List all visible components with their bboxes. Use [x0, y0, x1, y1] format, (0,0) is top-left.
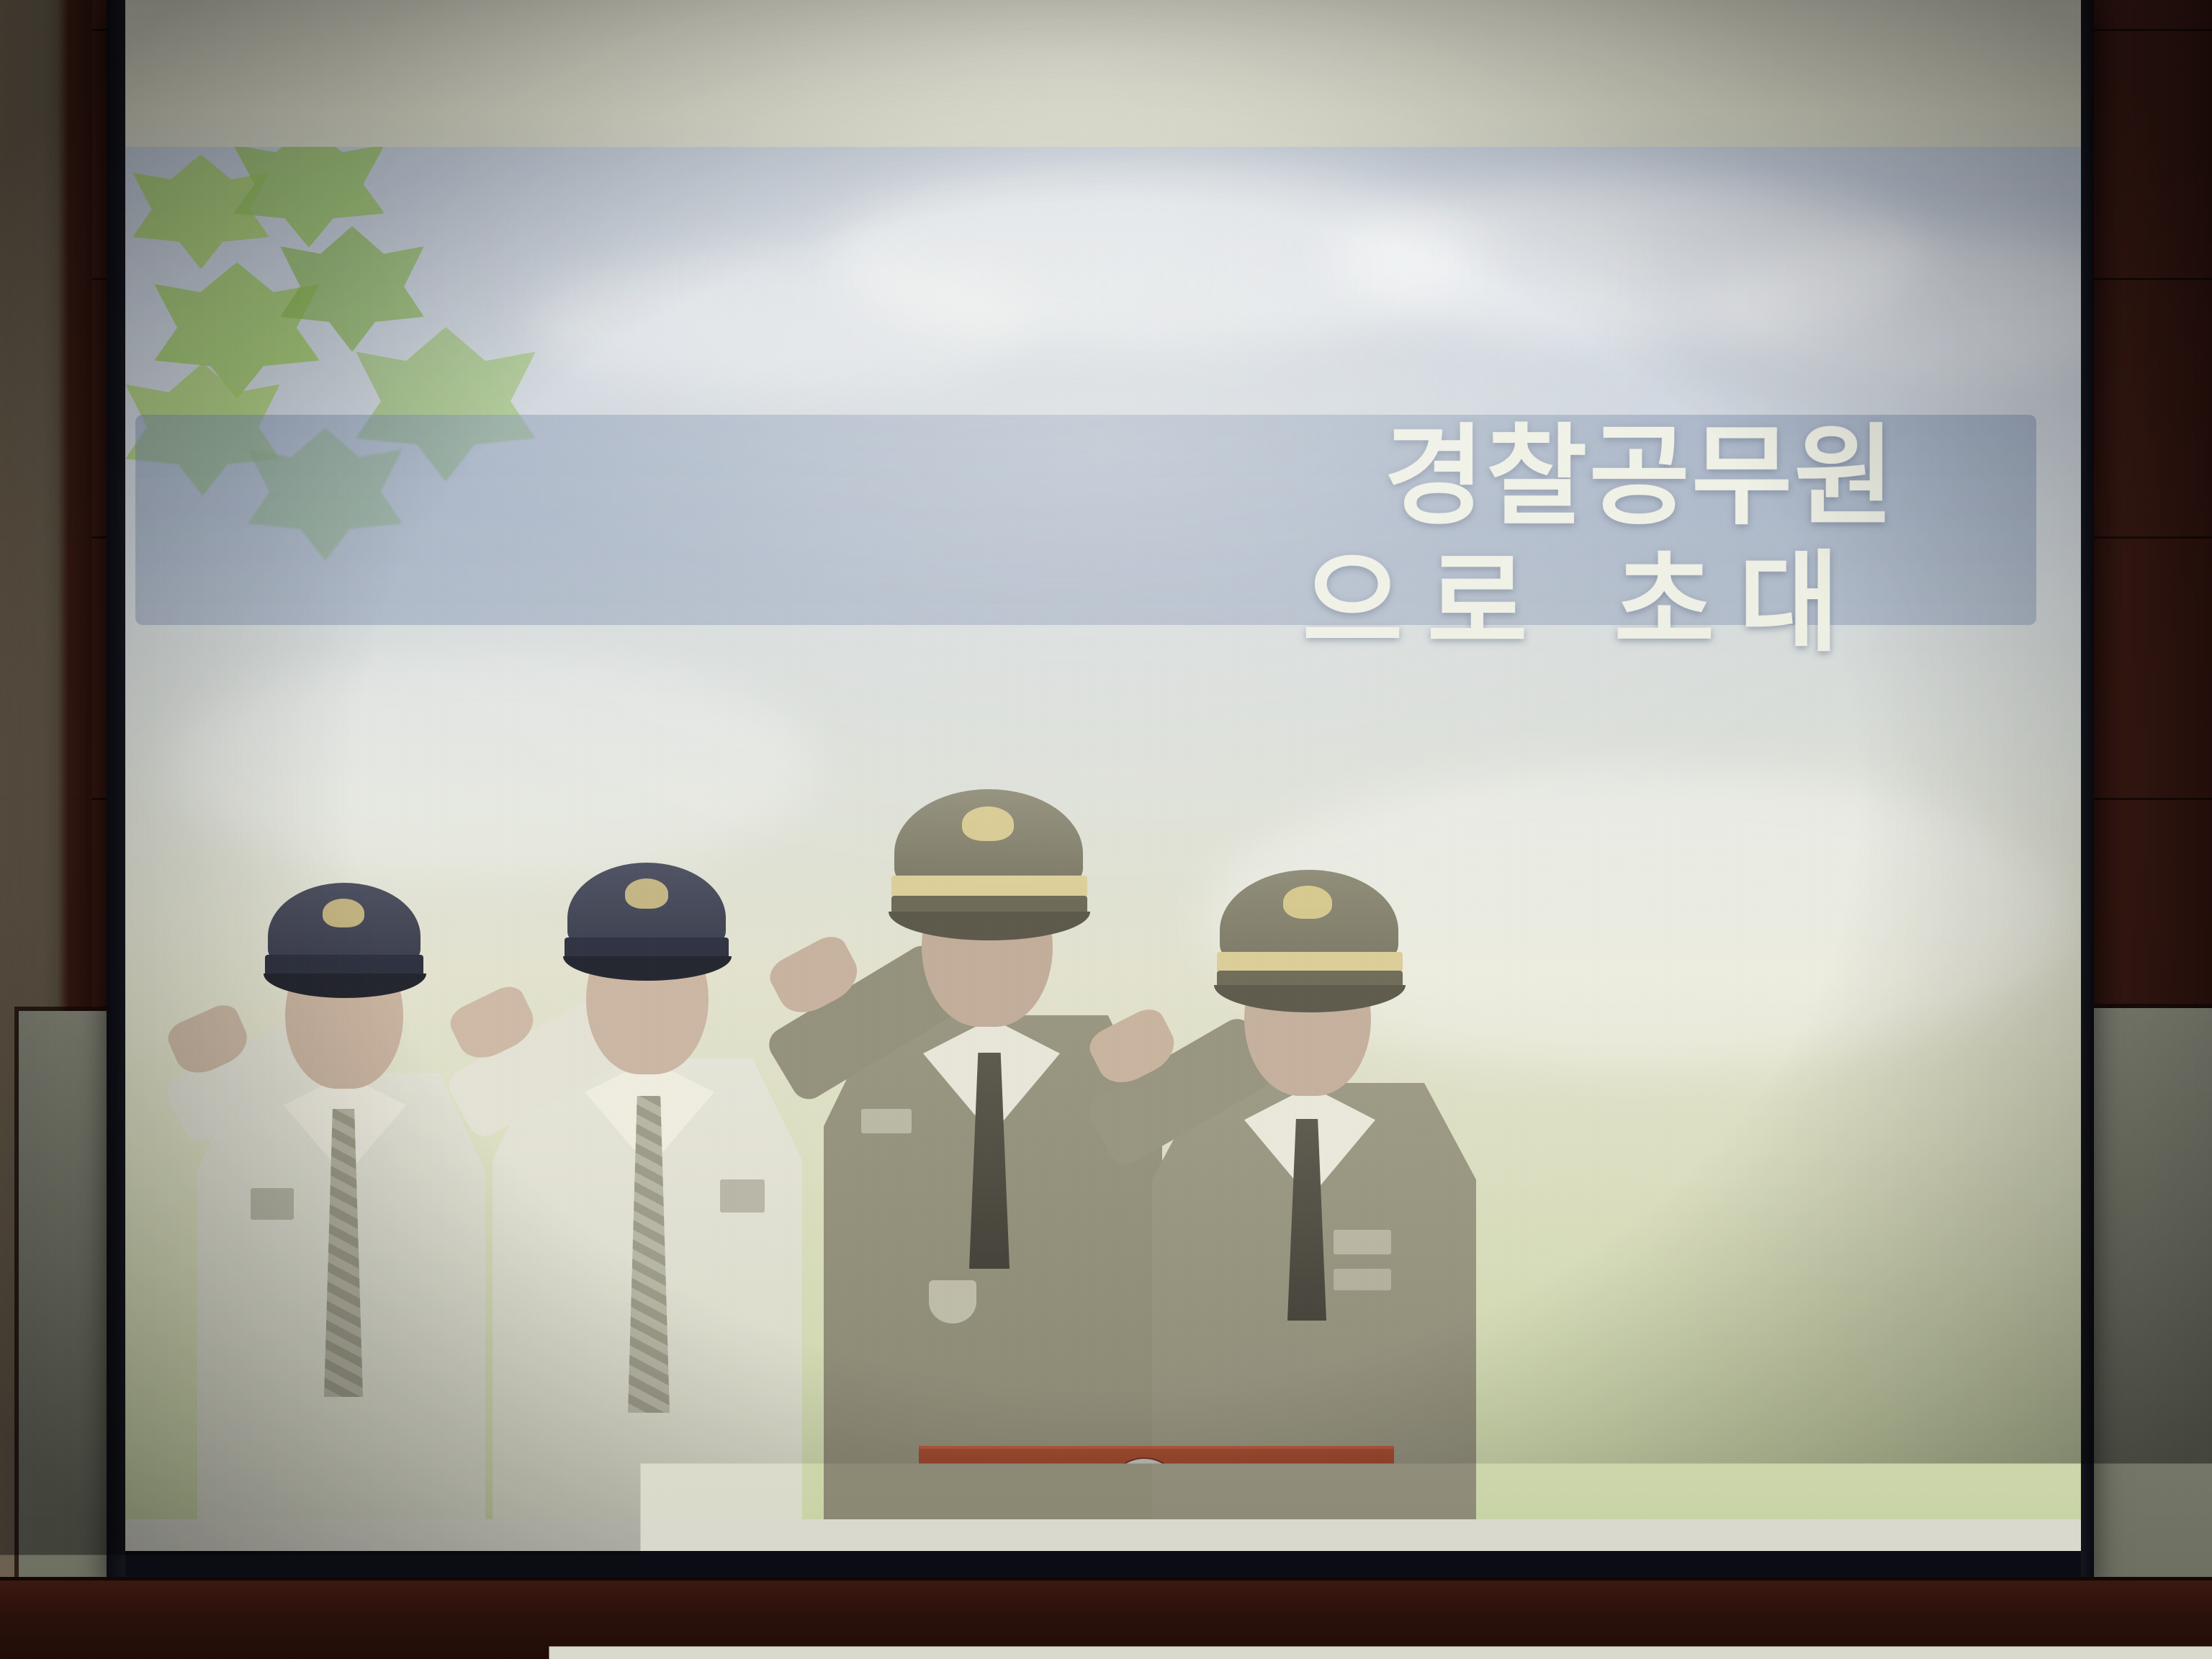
- lectern: [919, 1446, 1394, 1659]
- university-seal-mark: [1128, 1479, 1161, 1512]
- paper-cup: [1325, 1264, 1370, 1315]
- water-bottle: [1321, 1264, 1372, 1459]
- leaf: [154, 262, 320, 399]
- screen-border-left: [107, 0, 125, 1577]
- officer-cap-emblem: [323, 899, 364, 927]
- paper-cup-print: [1336, 1274, 1365, 1292]
- leaf: [280, 226, 424, 352]
- slide-title-line-2: 으로 초대: [125, 532, 1897, 675]
- officer-cap-emblem: [962, 806, 1014, 841]
- officer-chest-badge: [1334, 1230, 1391, 1254]
- officer-rank-insignia: [861, 1109, 912, 1133]
- slide-title-line-1: 경찰공무원: [125, 421, 1897, 532]
- bottle-label: [1325, 1336, 1368, 1374]
- officer-chest-badge: [929, 1280, 976, 1323]
- officer-badge: [720, 1179, 765, 1213]
- screen-border-right: [2081, 0, 2094, 1577]
- gooseneck-microphone: [1200, 1253, 1300, 1462]
- photo-scene: 경찰공무원 으로 초대: [0, 0, 2212, 1659]
- projector-overexposed-area: [125, 0, 2081, 163]
- presentation-slide: 경찰공무원 으로 초대: [125, 147, 2081, 1519]
- lectern-column: [974, 1512, 1342, 1659]
- police-officer-2: [464, 763, 824, 1519]
- police-officers-group: [125, 670, 2081, 1519]
- lectern-top: [919, 1446, 1394, 1515]
- cloud: [529, 255, 1033, 392]
- officer-cap-brim: [889, 912, 1090, 940]
- screen-surface: 경찰공무원 으로 초대: [125, 0, 2081, 1551]
- projection-screen: 경찰공무원 으로 초대: [107, 0, 2094, 1577]
- officer-badge: [251, 1188, 294, 1220]
- officer-cap-brim: [1214, 985, 1406, 1012]
- officer-cap-gold-band: [891, 876, 1087, 897]
- officer-cap-gold-band: [1217, 952, 1403, 972]
- police-officer-1: [176, 785, 507, 1519]
- microphone-cable: [1221, 1286, 1293, 1463]
- police-officer-4: [1120, 792, 1495, 1519]
- officer-cap-emblem: [625, 878, 668, 909]
- bottle-body: [1325, 1312, 1368, 1459]
- officer-cap-emblem: [1283, 886, 1332, 919]
